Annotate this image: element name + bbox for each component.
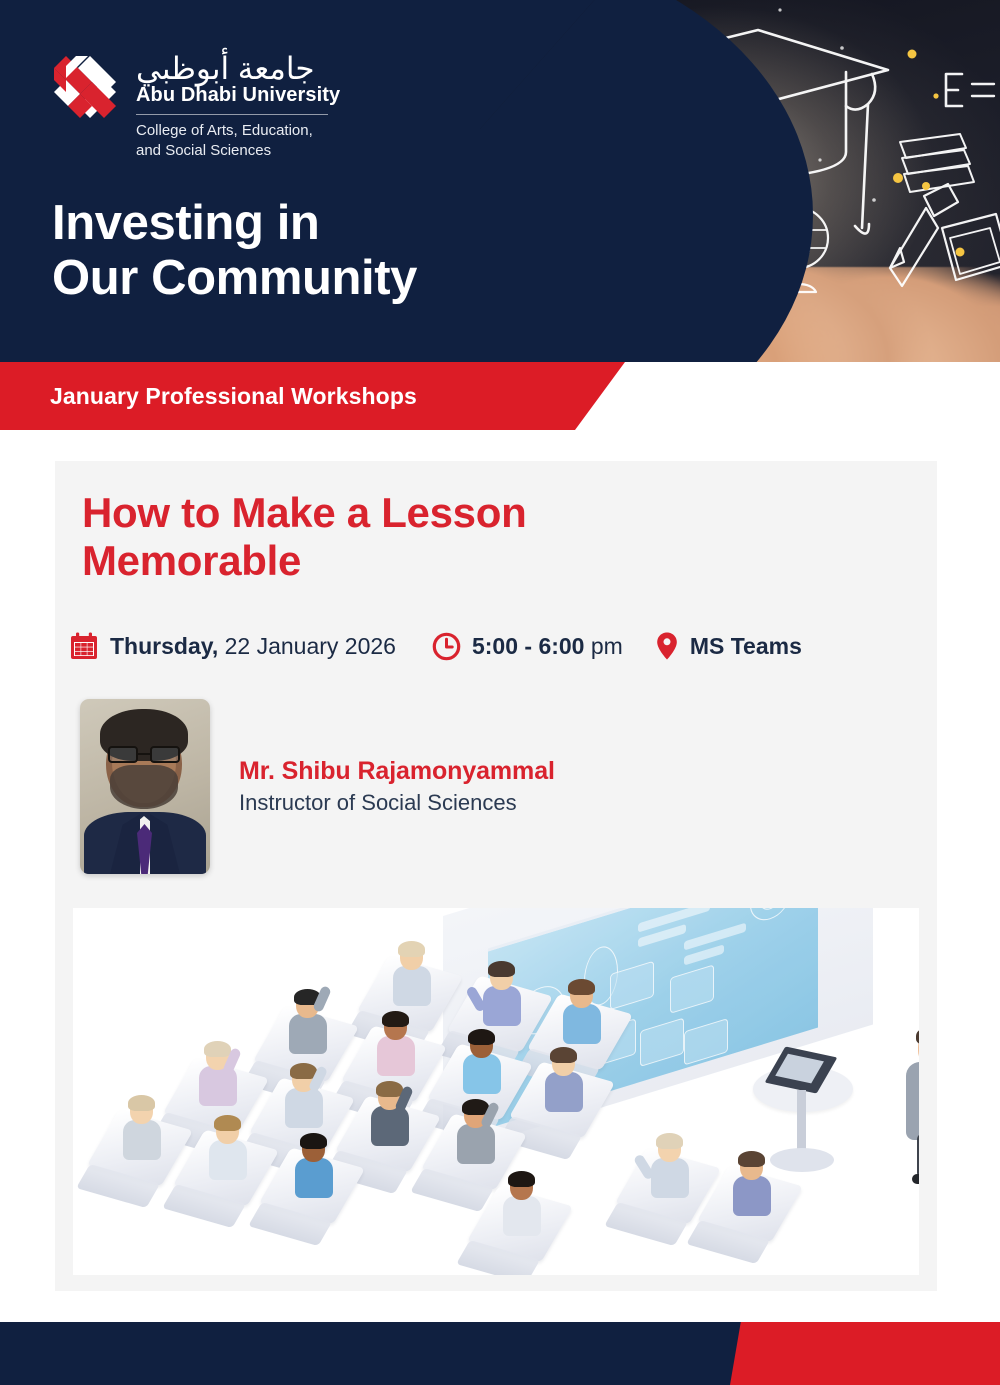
footer-bar <box>0 1322 1000 1385</box>
attendee-figure <box>205 1118 249 1176</box>
attendee-figure <box>195 1044 239 1102</box>
attendee-figure <box>453 1102 497 1160</box>
attendee-figure <box>729 1154 773 1212</box>
logo-divider <box>136 114 328 115</box>
logo-english-name: Abu Dhabi University <box>136 84 436 107</box>
workshop-location: MS Teams <box>655 631 802 661</box>
header-banner: جامعة أبوظبي Abu Dhabi University Colleg… <box>0 0 1000 362</box>
workshop-series-banner: January Professional Workshops <box>0 362 625 430</box>
attendee-figure <box>367 1084 411 1142</box>
attendee-figure <box>459 1032 503 1090</box>
location-pin-icon <box>655 631 679 661</box>
footer-navy-block <box>0 1322 760 1385</box>
logo-college-line1: College of Arts, Education, <box>136 122 313 139</box>
attendee-figure <box>389 944 433 1002</box>
attendee-figure <box>541 1050 585 1108</box>
attendee-figure <box>647 1136 691 1194</box>
workshop-date-day: Thursday, <box>110 633 218 659</box>
podium-base <box>770 1148 834 1172</box>
attendee-figure <box>373 1014 417 1072</box>
clock-icon <box>432 632 461 661</box>
logo-college-line2: and Social Sciences <box>136 142 271 159</box>
headline-line1: Investing in <box>52 196 319 250</box>
workshop-info-row: Thursday, 22 January 2026 5:00 - 6:00 pm <box>69 631 802 661</box>
speaker-name: Mr. Shibu Rajamonyammal <box>239 757 555 786</box>
workshop-location-text: MS Teams <box>690 633 802 660</box>
footer-red-block <box>730 1322 1000 1385</box>
workshop-time-suffix: pm <box>591 633 623 659</box>
presenter-figure <box>898 1026 919 1186</box>
logo-arabic-name: جامعة أبوظبي <box>136 52 436 87</box>
workshop-title-line2: Memorable <box>82 537 301 584</box>
calendar-icon <box>69 631 99 661</box>
attendee-figure <box>291 1136 335 1194</box>
workshop-title: How to Make a Lesson Memorable <box>82 489 802 585</box>
workshop-date-value: 22 January 2026 <box>225 633 396 659</box>
lecture-audience-illustration <box>73 908 919 1275</box>
headline-line2: Our Community <box>52 251 417 305</box>
attendee-figure <box>479 964 523 1022</box>
workshop-time: 5:00 - 6:00 pm <box>432 632 623 661</box>
workshop-date: Thursday, 22 January 2026 <box>69 631 396 661</box>
workshop-card: How to Make a Lesson Memorable <box>55 461 937 1291</box>
adu-woven-x-logo-icon <box>52 54 118 120</box>
workshop-location-value: MS Teams <box>690 633 802 659</box>
attendee-figure <box>119 1098 163 1156</box>
speaker-block: Mr. Shibu Rajamonyammal Instructor of So… <box>80 699 555 874</box>
attendee-figure <box>559 982 603 1040</box>
attendee-figure <box>499 1174 543 1232</box>
workshop-time-range: 5:00 - 6:00 <box>472 633 585 659</box>
workshop-date-text: Thursday, 22 January 2026 <box>110 633 396 660</box>
hero-education-photo <box>480 0 1000 362</box>
page-headline: Investing in Our Community <box>52 196 417 306</box>
workshop-time-text: 5:00 - 6:00 pm <box>472 633 623 660</box>
attendee-figure <box>281 1066 325 1124</box>
speaker-portrait-photo <box>80 699 210 874</box>
attendee-figure <box>285 992 329 1050</box>
workshop-series-label: January Professional Workshops <box>50 383 417 410</box>
speaker-role: Instructor of Social Sciences <box>239 790 555 816</box>
workshop-title-line1: How to Make a Lesson <box>82 489 526 536</box>
